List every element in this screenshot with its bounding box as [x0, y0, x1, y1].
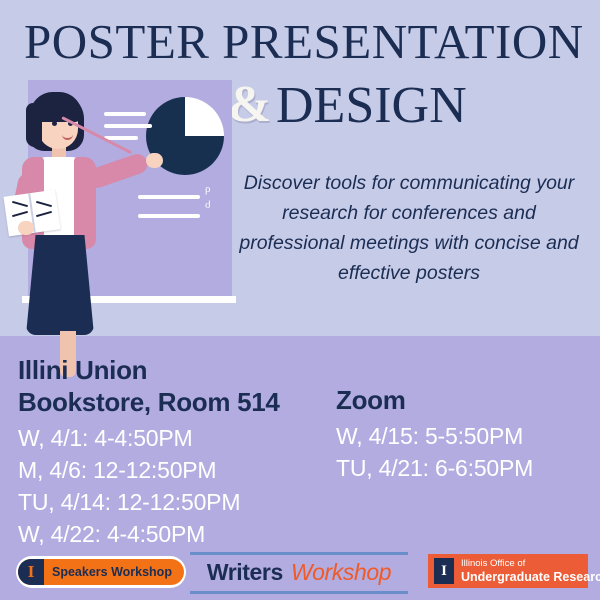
eye [52, 121, 57, 126]
illinois-block-i-icon: I [434, 558, 454, 584]
logo-undergraduate-research[interactable]: I Illinois Office of Undergraduate Resea… [428, 554, 588, 588]
speakers-workshop-label: Speakers Workshop [44, 565, 172, 579]
eyebrow [50, 115, 59, 117]
our-line2: Undergraduate Research [461, 570, 600, 584]
logo-speakers-workshop[interactable]: I Speakers Workshop [16, 556, 186, 588]
presenter-figure [0, 75, 120, 350]
online-location-line1: Zoom [336, 384, 596, 416]
workshop-word: Workshop [291, 559, 391, 586]
poster-canvas: POSTER PRESENTATION & DESIGN Discover to… [0, 0, 600, 600]
rule-bottom [190, 591, 408, 594]
session-time: TU, 4/14: 12-12:50PM [18, 486, 338, 518]
in-person-time-list: W, 4/1: 4-4:50PM M, 4/6: 12-12:50PM TU, … [18, 422, 338, 550]
session-time: W, 4/1: 4-4:50PM [18, 422, 338, 454]
left-hand [18, 221, 34, 235]
presenter-illustration: ρ ρ [0, 75, 232, 350]
session-time: W, 4/15: 5-5:50PM [336, 420, 596, 452]
page-title-line2: DESIGN [276, 78, 467, 134]
speakers-pill: I Speakers Workshop [18, 559, 184, 585]
our-text-group: Illinois Office of Undergraduate Researc… [461, 558, 600, 584]
our-line1: Illinois Office of [461, 558, 600, 570]
ampersand-glyph: & [228, 76, 271, 134]
in-person-location-line1: Illini Union [18, 354, 338, 386]
skirt [26, 235, 94, 335]
page-title-line1: POSTER PRESENTATION [24, 16, 584, 68]
board-text-line [138, 195, 200, 199]
hair-side [26, 103, 42, 147]
sessions-in-person: Illini Union Bookstore, Room 514 W, 4/1:… [18, 354, 338, 550]
session-time: TU, 4/21: 6-6:50PM [336, 452, 596, 484]
board-glyph-icon: ρ [205, 200, 211, 212]
writers-workshop-row: Writers Workshop [190, 555, 408, 591]
right-hand [146, 153, 163, 168]
eyebrow [66, 115, 75, 117]
online-time-list: W, 4/15: 5-5:50PM TU, 4/21: 6-6:50PM [336, 420, 596, 484]
board-glyph-icon: ρ [205, 183, 211, 195]
in-person-location-line2: Bookstore, Room 514 [18, 386, 338, 418]
board-text-line [138, 214, 200, 218]
logo-writers-workshop[interactable]: Writers Workshop [190, 552, 408, 594]
sessions-online: Zoom W, 4/15: 5-5:50PM TU, 4/21: 6-6:50P… [336, 384, 596, 484]
session-time: M, 4/6: 12-12:50PM [18, 454, 338, 486]
tagline-text: Discover tools for communicating your re… [228, 168, 590, 288]
session-time: W, 4/22: 4-4:50PM [18, 518, 338, 550]
writers-word: Writers [207, 559, 283, 586]
illinois-block-i-icon: I [18, 559, 44, 585]
